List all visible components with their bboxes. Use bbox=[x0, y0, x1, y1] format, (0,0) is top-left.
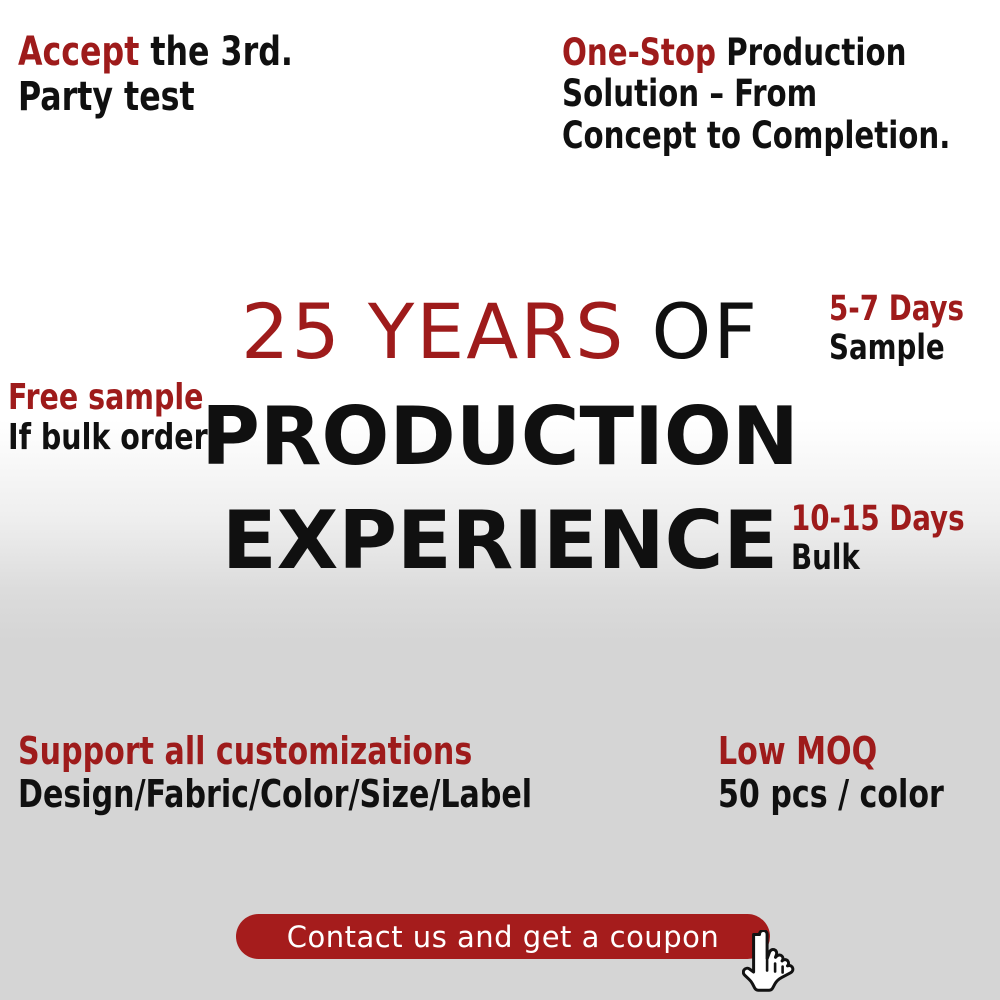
callout-accept-highlight: Accept bbox=[18, 29, 139, 75]
callout-accept-rest: the 3rd. bbox=[139, 29, 293, 75]
callout-customization-line2: Design/Fabric/Color/Size/Label bbox=[18, 773, 532, 816]
callout-sample-lead-time-line2: Sample bbox=[829, 329, 964, 368]
headline-of: OF bbox=[625, 287, 759, 376]
callout-low-moq-highlight: Low MOQ bbox=[718, 730, 944, 773]
contact-us-coupon-button[interactable]: Contact us and get a coupon bbox=[236, 914, 770, 959]
callout-bulk-lead-time-highlight: 10-15 Days bbox=[791, 500, 965, 539]
callout-one-stop-line3: Concept to Completion. bbox=[562, 115, 950, 156]
callout-accept-third-party-test: Accept the 3rd. Party test bbox=[18, 30, 330, 120]
headline-years-highlight: 25 YEARS bbox=[241, 287, 625, 376]
callout-free-sample-highlight: Free sample bbox=[8, 378, 208, 418]
callout-free-sample-line2: If bulk order bbox=[8, 418, 208, 458]
callout-one-stop-production: One-Stop Production Solution – From Conc… bbox=[562, 32, 1000, 156]
callout-customization-highlight: Support all customizations bbox=[18, 730, 532, 773]
callout-sample-lead-time: 5-7 Days Sample bbox=[829, 290, 982, 368]
callout-one-stop-line2: Solution – From bbox=[562, 73, 950, 114]
callout-bulk-lead-time: 10-15 Days Bulk bbox=[791, 500, 988, 578]
callout-one-stop-line1: One-Stop Production bbox=[562, 32, 950, 73]
callout-sample-lead-time-highlight: 5-7 Days bbox=[829, 290, 964, 329]
callout-free-sample: Free sample If bulk order bbox=[8, 378, 235, 459]
callout-accept-line1: Accept the 3rd. bbox=[18, 30, 293, 75]
callout-accept-line2: Party test bbox=[18, 75, 293, 120]
callout-one-stop-rest: Production bbox=[716, 31, 906, 74]
callout-customization: Support all customizations Design/Fabric… bbox=[18, 730, 602, 815]
callout-low-moq-line2: 50 pcs / color bbox=[718, 773, 944, 816]
callout-low-moq: Low MOQ 50 pcs / color bbox=[718, 730, 975, 815]
callout-one-stop-highlight: One-Stop bbox=[562, 31, 716, 74]
callout-bulk-lead-time-line2: Bulk bbox=[791, 539, 965, 578]
promo-banner: Accept the 3rd. Party test One-Stop Prod… bbox=[0, 0, 1000, 1000]
contact-us-coupon-button-label: Contact us and get a coupon bbox=[287, 920, 719, 954]
